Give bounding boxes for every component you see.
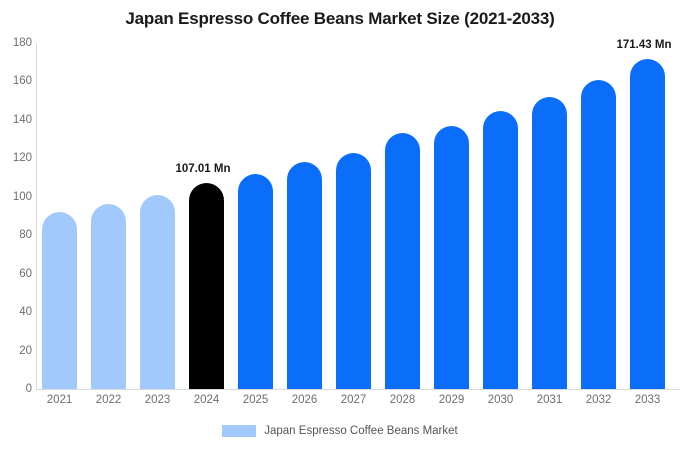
bar-2026[interactable] <box>287 43 322 389</box>
bar-2032[interactable] <box>581 43 616 389</box>
plot-area <box>36 43 680 389</box>
bar-fill-2025 <box>238 174 273 389</box>
y-axis-tick-100: 100 <box>2 191 32 203</box>
bar-fill-2032 <box>581 80 616 389</box>
x-axis-line <box>36 389 680 390</box>
bar-2029[interactable] <box>434 43 469 389</box>
y-axis-tick-120: 120 <box>2 152 32 164</box>
chart-title: Japan Espresso Coffee Beans Market Size … <box>0 9 680 29</box>
bar-2022[interactable] <box>91 43 126 389</box>
legend-label-japan-espresso-coffee-beans-market: Japan Espresso Coffee Beans Market <box>264 425 457 437</box>
x-axis-tick-2021: 2021 <box>35 394 84 406</box>
y-axis-tick-140: 140 <box>2 114 32 126</box>
bar-2033[interactable] <box>630 43 665 389</box>
bar-fill-2023 <box>140 195 175 389</box>
bar-fill-2033 <box>630 59 665 389</box>
bar-fill-2030 <box>483 111 518 389</box>
y-axis-tick-20: 20 <box>2 345 32 357</box>
bar-chart: Japan Espresso Coffee Beans Market Size … <box>0 0 680 450</box>
bar-2025[interactable] <box>238 43 273 389</box>
bar-fill-2022 <box>91 204 126 389</box>
bar-2030[interactable] <box>483 43 518 389</box>
x-axis-tick-2028: 2028 <box>378 394 427 406</box>
y-axis-tick-labels: 180160140120100806040200 <box>0 0 32 450</box>
bar-2028[interactable] <box>385 43 420 389</box>
bar-2027[interactable] <box>336 43 371 389</box>
x-axis-tick-2022: 2022 <box>84 394 133 406</box>
x-axis-tick-2029: 2029 <box>427 394 476 406</box>
bar-2023[interactable] <box>140 43 175 389</box>
x-axis-tick-2033: 2033 <box>623 394 672 406</box>
bar-value-label-2024: 107.01 Mn <box>176 163 231 175</box>
bar-fill-2026 <box>287 162 322 389</box>
y-axis-tick-40: 40 <box>2 306 32 318</box>
chart-legend: Japan Espresso Coffee Beans Market <box>0 425 680 437</box>
legend-swatch-japan-espresso-coffee-beans-market <box>222 425 256 437</box>
bar-fill-2031 <box>532 97 567 389</box>
x-axis-tick-2023: 2023 <box>133 394 182 406</box>
x-axis-tick-2026: 2026 <box>280 394 329 406</box>
bar-fill-2028 <box>385 133 420 389</box>
bar-fill-2027 <box>336 153 371 389</box>
y-axis-tick-0: 0 <box>2 383 32 395</box>
x-axis-tick-2031: 2031 <box>525 394 574 406</box>
x-axis-tick-2025: 2025 <box>231 394 280 406</box>
y-axis-tick-60: 60 <box>2 268 32 280</box>
y-axis-tick-80: 80 <box>2 229 32 241</box>
bar-2031[interactable] <box>532 43 567 389</box>
bar-value-label-2033: 171.43 Mn <box>617 39 672 51</box>
x-axis-tick-2032: 2032 <box>574 394 623 406</box>
bar-2021[interactable] <box>42 43 77 389</box>
y-axis-tick-180: 180 <box>2 37 32 49</box>
bar-2024[interactable] <box>189 43 224 389</box>
y-axis-tick-160: 160 <box>2 75 32 87</box>
bar-fill-2021 <box>42 212 77 389</box>
bar-fill-2024 <box>189 183 224 389</box>
bar-fill-2029 <box>434 126 469 389</box>
x-axis-tick-2024: 2024 <box>182 394 231 406</box>
x-axis-tick-2030: 2030 <box>476 394 525 406</box>
x-axis-tick-2027: 2027 <box>329 394 378 406</box>
